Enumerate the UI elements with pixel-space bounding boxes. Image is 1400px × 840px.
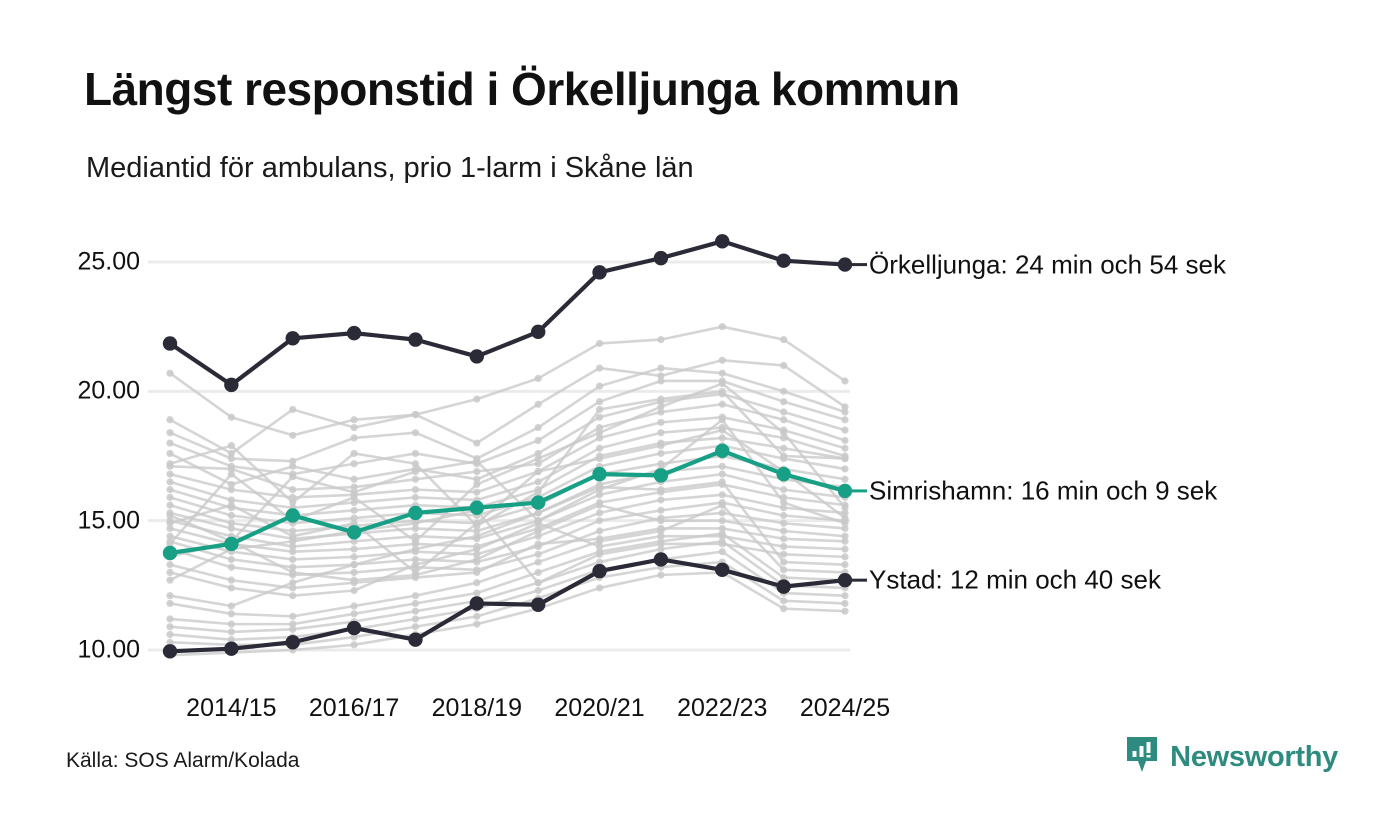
- background-series-group: [166, 323, 848, 659]
- x-tick-label: 2024/25: [800, 694, 890, 723]
- series-annotation-örkelljunga: Örkelljunga: 24 min och 54 sek: [869, 249, 1226, 280]
- y-tick-label: 25.00: [20, 248, 140, 277]
- highlight-series-örkelljunga: [163, 234, 867, 392]
- chart-figure: Längst responstid i Örkelljunga kommun M…: [0, 0, 1400, 840]
- x-tick-label: 2022/23: [677, 694, 767, 723]
- newsworthy-bars-bubble-icon: [1125, 735, 1159, 780]
- y-tick-label: 15.00: [20, 506, 140, 535]
- x-tick-label: 2014/15: [186, 694, 276, 723]
- x-tick-label: 2020/21: [554, 694, 644, 723]
- y-tick-label: 20.00: [20, 377, 140, 406]
- source-note: Källa: SOS Alarm/Kolada: [66, 749, 299, 773]
- x-tick-label: 2018/19: [432, 694, 522, 723]
- y-tick-label: 10.00: [20, 636, 140, 665]
- brand-name: Newsworthy: [1170, 741, 1338, 774]
- series-annotation-ystad: Ystad: 12 min och 40 sek: [869, 565, 1161, 596]
- brand-logo: Newsworthy: [1125, 735, 1338, 780]
- series-annotation-simrishamn: Simrishamn: 16 min och 9 sek: [869, 475, 1217, 506]
- x-tick-label: 2016/17: [309, 694, 399, 723]
